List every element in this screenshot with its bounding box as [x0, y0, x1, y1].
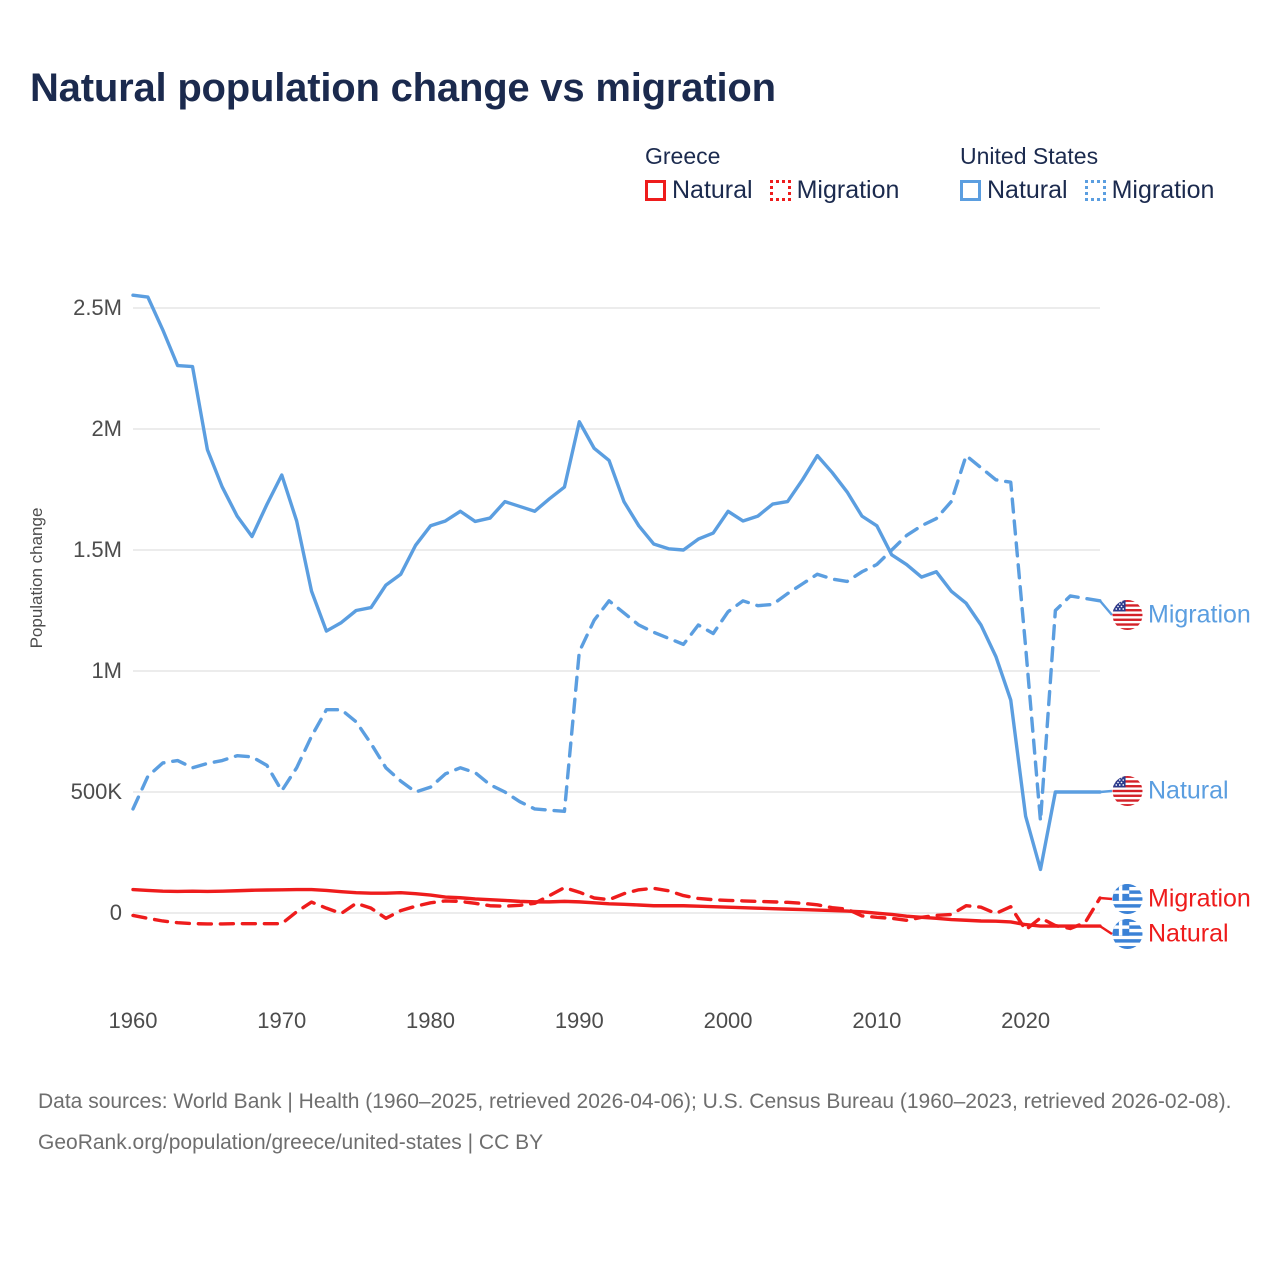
us-flag-icon — [1112, 600, 1143, 631]
greece-flag-icon — [1112, 884, 1143, 915]
series-end-label-text: Natural — [1148, 920, 1229, 949]
series-end-label: Natural — [1112, 776, 1229, 807]
series-end-label-text: Migration — [1148, 885, 1251, 914]
series-line — [133, 456, 1100, 821]
series-end-label-text: Natural — [1148, 777, 1229, 806]
series-end-label-text: Migration — [1148, 601, 1251, 630]
series-label-connector — [1100, 898, 1112, 899]
series-end-label: Migration — [1112, 600, 1251, 631]
series-label-connector — [1100, 926, 1112, 934]
series-label-connector — [1100, 791, 1112, 792]
series-line — [133, 888, 1100, 930]
chart-container: Natural population change vs migration G… — [0, 0, 1280, 1280]
greece-flag-icon — [1112, 919, 1143, 950]
chart-footer: Data sources: World Bank | Health (1960–… — [38, 1086, 1253, 1159]
footer-sources: Data sources: World Bank | Health (1960–… — [38, 1086, 1253, 1119]
us-flag-icon — [1112, 776, 1143, 807]
series-end-label: Migration — [1112, 884, 1251, 915]
footer-attribution: GeoRank.org/population/greece/united-sta… — [38, 1127, 1253, 1160]
series-label-connector — [1100, 601, 1112, 615]
series-end-label: Natural — [1112, 919, 1229, 950]
